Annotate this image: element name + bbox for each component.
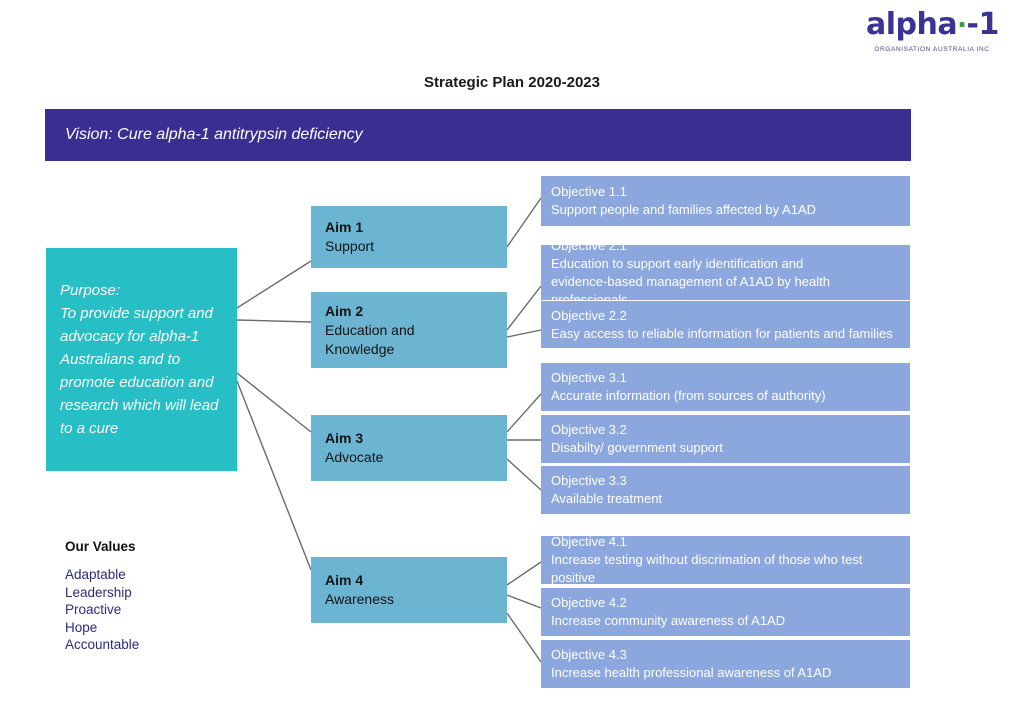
connector-purpose-aim3: [237, 373, 311, 432]
aim-box-4[interactable]: Aim 4 Awareness: [311, 557, 507, 623]
value-item-1: Leadership: [65, 584, 139, 602]
values-list: Adaptable Leadership Proactive Hope Acco…: [65, 566, 139, 654]
objective-4-1-label: Increase testing without discrimation of…: [551, 551, 910, 587]
objective-2-2-label: Easy access to reliable information for …: [551, 325, 893, 343]
objective-box-4-2[interactable]: Objective 4.2 Increase community awarene…: [541, 588, 910, 636]
value-item-3: Hope: [65, 619, 139, 637]
objective-4-2-number: Objective 4.2: [551, 594, 785, 612]
value-item-2: Proactive: [65, 601, 139, 619]
value-item-0: Adaptable: [65, 566, 139, 584]
page-title: Strategic Plan 2020-2023: [0, 74, 1024, 91]
connector-aim2-obj21: [507, 286, 541, 330]
objective-3-2-label: Disabilty/ government support: [551, 439, 723, 457]
objective-3-1-label: Accurate information (from sources of au…: [551, 387, 826, 405]
objective-box-3-1[interactable]: Objective 3.1 Accurate information (from…: [541, 363, 910, 411]
aim-2-label: Education and Knowledge: [325, 321, 415, 359]
objective-3-3-number: Objective 3.3: [551, 472, 662, 490]
aim-1-label: Support: [325, 237, 374, 256]
objective-3-1-number: Objective 3.1: [551, 369, 826, 387]
connector-purpose-aim1: [237, 261, 311, 308]
objective-box-4-1[interactable]: Objective 4.1 Increase testing without d…: [541, 536, 910, 584]
objective-2-1-number: Objective 2.1: [551, 237, 910, 255]
objective-box-1-1[interactable]: Objective 1.1 Support people and familie…: [541, 176, 910, 226]
objective-box-3-3[interactable]: Objective 3.3 Available treatment: [541, 466, 910, 514]
aim-4-label: Awareness: [325, 590, 394, 609]
objective-4-3-number: Objective 4.3: [551, 646, 831, 664]
logo-subtitle: ORGANISATION AUSTRALIA INC: [866, 46, 998, 53]
connector-aim3-obj31: [507, 394, 541, 432]
objective-3-2-number: Objective 3.2: [551, 421, 723, 439]
purpose-box: Purpose: To provide support and advocacy…: [46, 248, 237, 471]
logo-accent-dot: ·: [957, 11, 966, 41]
vision-text: Vision: Cure alpha-1 antitrypsin deficie…: [45, 126, 363, 144]
purpose-text: Purpose: To provide support and advocacy…: [46, 279, 237, 440]
objective-box-2-2[interactable]: Objective 2.2 Easy access to reliable in…: [541, 301, 910, 348]
vision-banner: Vision: Cure alpha-1 antitrypsin deficie…: [45, 109, 911, 161]
connector-aim3-obj33: [507, 459, 541, 490]
objective-4-3-label: Increase health professional awareness o…: [551, 664, 831, 682]
connector-purpose-aim2: [237, 320, 311, 322]
logo-wordmark: alpha·-1: [866, 8, 998, 43]
connector-aim4-obj42: [507, 595, 541, 608]
alpha-1-logo: alpha·-1 ORGANISATION AUSTRALIA INC: [866, 8, 998, 64]
aim-3-number: Aim 3: [325, 429, 383, 448]
aim-1-number: Aim 1: [325, 218, 374, 237]
connector-aim4-obj43: [507, 613, 541, 662]
objective-1-1-label: Support people and families affected by …: [551, 201, 816, 219]
objective-4-1-number: Objective 4.1: [551, 533, 910, 551]
aim-4-number: Aim 4: [325, 571, 394, 590]
objective-2-2-number: Objective 2.2: [551, 307, 893, 325]
strategic-plan-diagram: alpha·-1 ORGANISATION AUSTRALIA INC Stra…: [0, 0, 1024, 724]
values-heading: Our Values: [65, 539, 136, 554]
aim-2-number: Aim 2: [325, 302, 415, 321]
objective-4-2-label: Increase community awareness of A1AD: [551, 612, 785, 630]
connector-aim2-obj22: [507, 330, 541, 337]
connector-aim1-obj11: [507, 198, 541, 247]
objective-box-4-3[interactable]: Objective 4.3 Increase health profession…: [541, 640, 910, 688]
aim-box-1[interactable]: Aim 1 Support: [311, 206, 507, 268]
connector-aim4-obj41: [507, 562, 541, 585]
value-item-4: Accountable: [65, 636, 139, 654]
aim-3-label: Advocate: [325, 448, 383, 467]
aim-box-2[interactable]: Aim 2 Education and Knowledge: [311, 292, 507, 368]
objective-box-3-2[interactable]: Objective 3.2 Disabilty/ government supp…: [541, 415, 910, 463]
aim-box-3[interactable]: Aim 3 Advocate: [311, 415, 507, 481]
objective-box-2-1[interactable]: Objective 2.1 Education to support early…: [541, 245, 910, 300]
connector-purpose-aim4: [237, 381, 311, 570]
logo-word-alpha: alpha: [866, 7, 957, 42]
objective-3-3-label: Available treatment: [551, 490, 662, 508]
objective-1-1-number: Objective 1.1: [551, 183, 816, 201]
logo-word-suffix: -1: [967, 7, 999, 42]
